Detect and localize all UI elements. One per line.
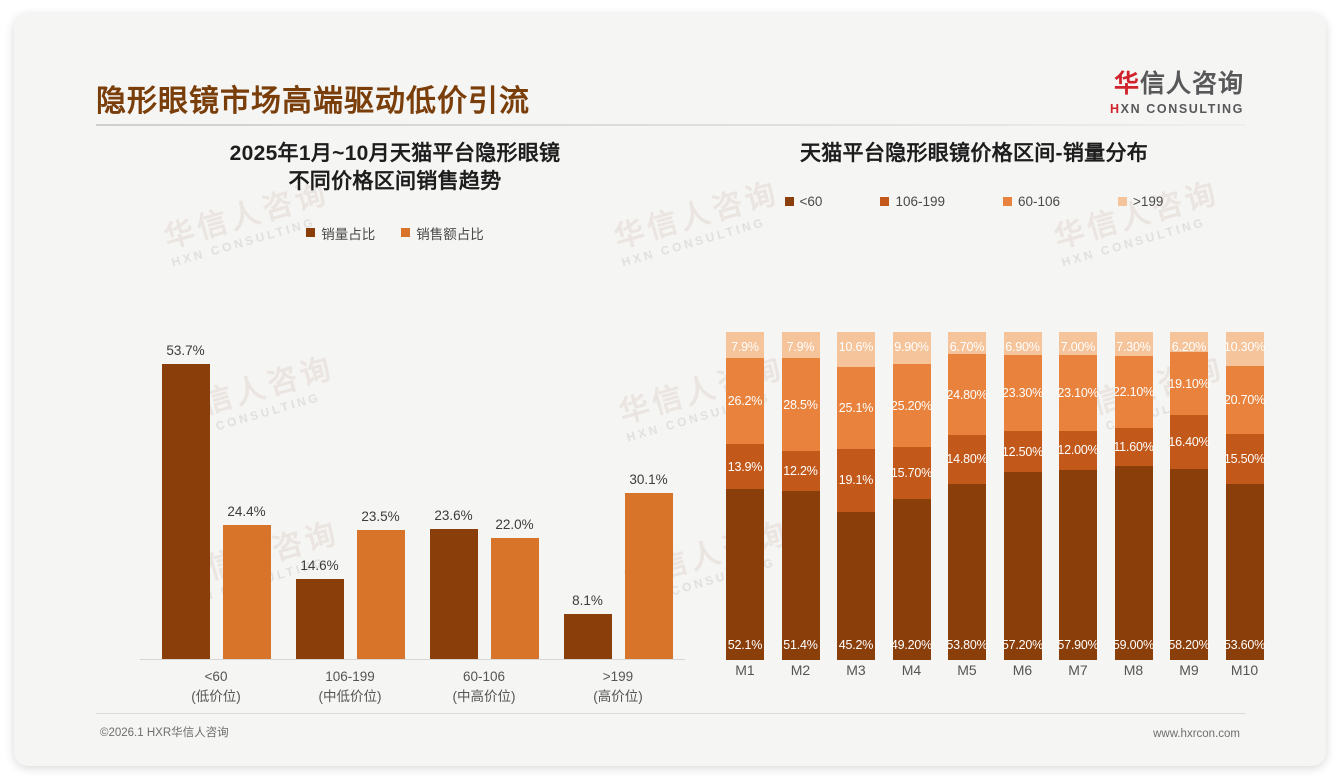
- stacked-bar[interactable]: 10.6%25.1%19.1%45.2%: [837, 332, 875, 660]
- logo-chinese: 华信人咨询: [1110, 64, 1244, 100]
- slide-canvas: 华信人咨询 HXN CONSULTING 华信人咨询 HXN CONSULTIN…: [14, 14, 1326, 766]
- legend-label: 60-106: [1018, 194, 1060, 209]
- x-axis-month-label: M5: [945, 662, 989, 678]
- x-axis-month-label: M8: [1112, 662, 1156, 678]
- x-axis-category-label: <60(低价位): [152, 667, 280, 706]
- stacked-bar-segment[interactable]: 6.20%: [1170, 332, 1208, 352]
- bar-group: 23.6%22.0%: [420, 329, 548, 659]
- x-axis-month-label: M6: [1001, 662, 1045, 678]
- stacked-bar[interactable]: 6.70%24.80%14.80%53.80%: [948, 332, 986, 660]
- legend-label: 106-199: [895, 194, 945, 209]
- segment-value-label: 57.20%: [1002, 638, 1043, 652]
- bar-value-label: 23.6%: [434, 508, 472, 523]
- header-divider: [96, 124, 1246, 126]
- segment-value-label: 15.70%: [891, 466, 932, 480]
- bar[interactable]: 14.6%: [296, 579, 344, 659]
- bar[interactable]: 22.0%: [491, 538, 539, 659]
- stacked-bar-segment[interactable]: 24.80%: [948, 354, 986, 435]
- segment-value-label: 12.2%: [783, 464, 817, 478]
- segment-value-label: 51.4%: [783, 638, 817, 652]
- x-axis-category-label: 106-199(中低价位): [286, 667, 414, 706]
- segment-value-label: 7.9%: [787, 340, 815, 354]
- left-chart-title-line2: 不同价格区间销售趋势: [100, 168, 690, 196]
- segment-value-label: 24.80%: [946, 388, 987, 402]
- segment-value-label: 11.60%: [1113, 440, 1153, 454]
- right-chart-plot: 7.9%26.2%13.9%52.1%M17.9%28.5%12.2%51.4%…: [712, 320, 1250, 660]
- stacked-bar-segment[interactable]: 15.50%: [1226, 434, 1264, 485]
- segment-value-label: 6.90%: [1005, 340, 1039, 354]
- logo-cn-highlight: 华: [1114, 70, 1140, 98]
- stacked-bar-segment[interactable]: 7.9%: [726, 332, 764, 358]
- stacked-bar-segment[interactable]: 6.90%: [1004, 332, 1042, 355]
- x-axis-month-label: M4: [890, 662, 934, 678]
- x-axis-month-label: M9: [1167, 662, 1211, 678]
- bar-value-label: 23.5%: [361, 509, 399, 524]
- stacked-bar-segment[interactable]: 25.1%: [837, 367, 875, 449]
- bar[interactable]: 8.1%: [564, 614, 612, 659]
- bar-value-label: 8.1%: [572, 593, 603, 608]
- x-axis-month-label: M2: [779, 662, 823, 678]
- segment-value-label: 52.1%: [728, 638, 762, 652]
- x-axis-category-sub: (高价位): [554, 687, 682, 707]
- bar-fill: [564, 614, 612, 659]
- footer-website: www.hxrcon.com: [1153, 728, 1240, 740]
- stacked-bar-segment[interactable]: 12.2%: [782, 451, 820, 491]
- stacked-bar-segment[interactable]: 7.30%: [1115, 332, 1153, 356]
- left-chart-title-line1: 2025年1月~10月天猫平台隐形眼镜: [230, 142, 561, 165]
- stacked-bar-segment[interactable]: 26.2%: [726, 358, 764, 444]
- stacked-bar-segment[interactable]: 23.30%: [1004, 355, 1042, 431]
- logo-cn-rest: 信人咨询: [1140, 70, 1244, 98]
- footer-copyright: ©2026.1 HXR华信人咨询: [100, 724, 229, 740]
- stacked-bar-segment[interactable]: 57.90%: [1059, 470, 1097, 660]
- right-chart-title-line1: 天猫平台隐形眼镜价格区间-销量分布: [800, 142, 1148, 165]
- segment-value-label: 25.20%: [891, 399, 932, 413]
- segment-value-label: 12.00%: [1057, 443, 1098, 457]
- stacked-bar-segment[interactable]: 59.00%: [1115, 466, 1153, 660]
- segment-value-label: 16.40%: [1168, 435, 1209, 449]
- segment-value-label: 19.1%: [839, 473, 873, 487]
- stacked-bar-segment[interactable]: 9.90%: [893, 332, 931, 364]
- segment-value-label: 10.6%: [839, 340, 873, 354]
- segment-value-label: 9.90%: [894, 340, 928, 354]
- bar[interactable]: 24.4%: [223, 525, 271, 659]
- logo-english: HXN CONSULTING: [1110, 102, 1244, 116]
- legend-swatch-icon: [880, 197, 889, 206]
- stacked-bar[interactable]: 6.90%23.30%12.50%57.20%: [1004, 332, 1042, 660]
- segment-value-label: 53.60%: [1224, 638, 1265, 652]
- stacked-bar-segment[interactable]: 19.1%: [837, 449, 875, 512]
- segment-value-label: 45.2%: [839, 638, 873, 652]
- x-axis-category-sub: (中高价位): [420, 687, 548, 707]
- segment-value-label: 58.20%: [1168, 638, 1209, 652]
- segment-value-label: 12.50%: [1002, 445, 1043, 459]
- segment-value-label: 59.00%: [1113, 638, 1154, 652]
- segment-value-label: 6.70%: [950, 340, 984, 354]
- segment-value-label: 20.70%: [1224, 393, 1265, 407]
- legend-label: 销量占比: [321, 223, 375, 243]
- stacked-bar-segment[interactable]: 10.6%: [837, 332, 875, 367]
- legend-item[interactable]: 106-199: [880, 194, 945, 209]
- stacked-bar-segment[interactable]: 49.20%: [893, 499, 931, 660]
- bar-fill: [357, 530, 405, 659]
- stacked-bar[interactable]: 7.00%23.10%12.00%57.90%: [1059, 332, 1097, 660]
- segment-value-label: 23.10%: [1057, 386, 1098, 400]
- stacked-bar-segment[interactable]: 58.20%: [1170, 469, 1208, 660]
- stacked-bar-segment[interactable]: 25.20%: [893, 364, 931, 447]
- stacked-bar[interactable]: 9.90%25.20%15.70%49.20%: [893, 332, 931, 660]
- segment-value-label: 49.20%: [891, 638, 932, 652]
- bar-value-label: 14.6%: [300, 558, 338, 573]
- bar-value-label: 24.4%: [227, 504, 265, 519]
- segment-value-label: 15.50%: [1224, 452, 1265, 466]
- footer-divider: [96, 713, 1246, 714]
- left-chart-title: 2025年1月~10月天猫平台隐形眼镜 不同价格区间销售趋势: [100, 140, 690, 197]
- left-chart-plot: 53.7%24.4%<60(低价位)14.6%23.5%106-199(中低价位…: [140, 325, 685, 660]
- x-axis-category-label: >199(高价位): [554, 667, 682, 706]
- stacked-bar[interactable]: 6.20%19.10%16.40%58.20%: [1170, 332, 1208, 660]
- bar-fill: [491, 538, 539, 659]
- bar-fill: [162, 364, 210, 659]
- x-axis-month-label: M3: [834, 662, 878, 678]
- segment-value-label: 19.10%: [1168, 377, 1209, 391]
- stacked-bar-segment[interactable]: 11.60%: [1115, 428, 1153, 466]
- legend-item[interactable]: 销量占比: [306, 223, 375, 243]
- legend-swatch-icon: [401, 228, 410, 237]
- segment-value-label: 25.1%: [839, 401, 873, 415]
- segment-value-label: 7.00%: [1061, 340, 1095, 354]
- legend-item[interactable]: 销售额占比: [401, 223, 484, 243]
- segment-value-label: 28.5%: [783, 398, 817, 412]
- bar-value-label: 22.0%: [495, 517, 533, 532]
- bar-group: 8.1%30.1%: [554, 329, 682, 659]
- x-axis-category-main: <60: [205, 669, 228, 684]
- x-axis-month-label: M1: [723, 662, 767, 678]
- x-axis-category-main: >199: [603, 669, 633, 684]
- bar-fill: [296, 579, 344, 659]
- segment-value-label: 14.80%: [946, 452, 987, 466]
- stacked-bar-segment[interactable]: 16.40%: [1170, 415, 1208, 469]
- stacked-bar-segment[interactable]: 13.9%: [726, 444, 764, 490]
- company-logo: 华信人咨询 HXN CONSULTING: [1110, 64, 1244, 116]
- bar[interactable]: 23.5%: [357, 530, 405, 659]
- stacked-bar-segment[interactable]: 10.30%: [1226, 332, 1264, 366]
- logo-en-highlight: H: [1110, 102, 1121, 116]
- x-axis-category-sub: (低价位): [152, 687, 280, 707]
- right-chart-legend: <60106-19960-106>199: [694, 194, 1254, 209]
- stacked-bar-segment[interactable]: 15.70%: [893, 447, 931, 498]
- bar-fill: [625, 493, 673, 659]
- chart-panel-left: 2025年1月~10月天猫平台隐形眼镜 不同价格区间销售趋势 销量占比销售额占比…: [100, 140, 690, 710]
- stacked-bar-segment[interactable]: 12.50%: [1004, 431, 1042, 472]
- legend-label: >199: [1133, 194, 1163, 209]
- x-axis-category-main: 106-199: [325, 669, 375, 684]
- legend-swatch-icon: [1003, 197, 1012, 206]
- bar-group: 53.7%24.4%: [152, 329, 280, 659]
- stacked-bar[interactable]: 7.9%28.5%12.2%51.4%: [782, 332, 820, 660]
- bar-group: 14.6%23.5%: [286, 329, 414, 659]
- slide-header: 隐形眼镜市场高端驱动低价引流 华信人咨询 HXN CONSULTING: [14, 14, 1326, 120]
- stacked-bar-segment[interactable]: 12.00%: [1059, 431, 1097, 470]
- bar-fill: [223, 525, 271, 659]
- stacked-bar-segment[interactable]: 6.70%: [948, 332, 986, 354]
- bar[interactable]: 53.7%: [162, 364, 210, 659]
- x-axis-month-label: M10: [1223, 662, 1267, 678]
- bar-value-label: 30.1%: [629, 472, 667, 487]
- x-axis-month-label: M7: [1056, 662, 1100, 678]
- legend-item[interactable]: >199: [1118, 194, 1163, 209]
- x-axis-category-sub: (中低价位): [286, 687, 414, 707]
- stacked-bar-segment[interactable]: 22.10%: [1115, 356, 1153, 428]
- legend-label: 销售额占比: [416, 223, 484, 243]
- chart-panel-right: 天猫平台隐形眼镜价格区间-销量分布 <60106-19960-106>199 7…: [694, 140, 1254, 710]
- bar[interactable]: 23.6%: [430, 529, 478, 659]
- segment-value-label: 23.30%: [1002, 386, 1043, 400]
- legend-swatch-icon: [306, 228, 315, 237]
- stacked-bar-segment[interactable]: 7.9%: [782, 332, 820, 358]
- stacked-bar-segment[interactable]: 45.2%: [837, 512, 875, 660]
- segment-value-label: 22.10%: [1113, 385, 1154, 399]
- bar-fill: [430, 529, 478, 659]
- legend-swatch-icon: [1118, 197, 1127, 206]
- legend-swatch-icon: [785, 197, 794, 206]
- stacked-bar-segment[interactable]: 51.4%: [782, 491, 820, 660]
- x-axis-category-label: 60-106(中高价位): [420, 667, 548, 706]
- stacked-bar-segment[interactable]: 53.80%: [948, 484, 986, 660]
- stacked-bar-segment[interactable]: 52.1%: [726, 489, 764, 660]
- stacked-bar-segment[interactable]: 53.60%: [1226, 484, 1264, 660]
- bar[interactable]: 30.1%: [625, 493, 673, 659]
- stacked-bar-segment[interactable]: 28.5%: [782, 358, 820, 451]
- page-title: 隐形眼镜市场高端驱动低价引流: [96, 76, 530, 120]
- segment-value-label: 7.9%: [731, 340, 759, 354]
- legend-item[interactable]: 60-106: [1003, 194, 1060, 209]
- right-chart-title: 天猫平台隐形眼镜价格区间-销量分布: [694, 140, 1254, 168]
- stacked-bar[interactable]: 7.30%22.10%11.60%59.00%: [1115, 332, 1153, 660]
- legend-item[interactable]: <60: [785, 194, 823, 209]
- bar-value-label: 53.7%: [166, 343, 204, 358]
- x-axis-category-main: 60-106: [463, 669, 505, 684]
- segment-value-label: 13.9%: [728, 460, 762, 474]
- segment-value-label: 10.30%: [1224, 340, 1265, 354]
- left-chart-legend: 销量占比销售额占比: [100, 223, 690, 243]
- segment-value-label: 7.30%: [1116, 340, 1150, 354]
- stacked-bar-segment[interactable]: 57.20%: [1004, 472, 1042, 660]
- stacked-bar[interactable]: 10.30%20.70%15.50%53.60%: [1226, 332, 1264, 660]
- stacked-bar-segment[interactable]: 23.10%: [1059, 355, 1097, 431]
- stacked-bar-segment[interactable]: 14.80%: [948, 435, 986, 483]
- segment-value-label: 57.90%: [1057, 638, 1098, 652]
- stacked-bar-segment[interactable]: 20.70%: [1226, 366, 1264, 434]
- stacked-bar[interactable]: 7.9%26.2%13.9%52.1%: [726, 332, 764, 660]
- logo-en-rest: XN CONSULTING: [1121, 102, 1244, 116]
- segment-value-label: 53.80%: [946, 638, 987, 652]
- stacked-bar-segment[interactable]: 19.10%: [1170, 352, 1208, 415]
- x-axis-line: [140, 659, 685, 660]
- legend-label: <60: [800, 194, 823, 209]
- segment-value-label: 26.2%: [728, 394, 762, 408]
- stacked-bar-segment[interactable]: 7.00%: [1059, 332, 1097, 355]
